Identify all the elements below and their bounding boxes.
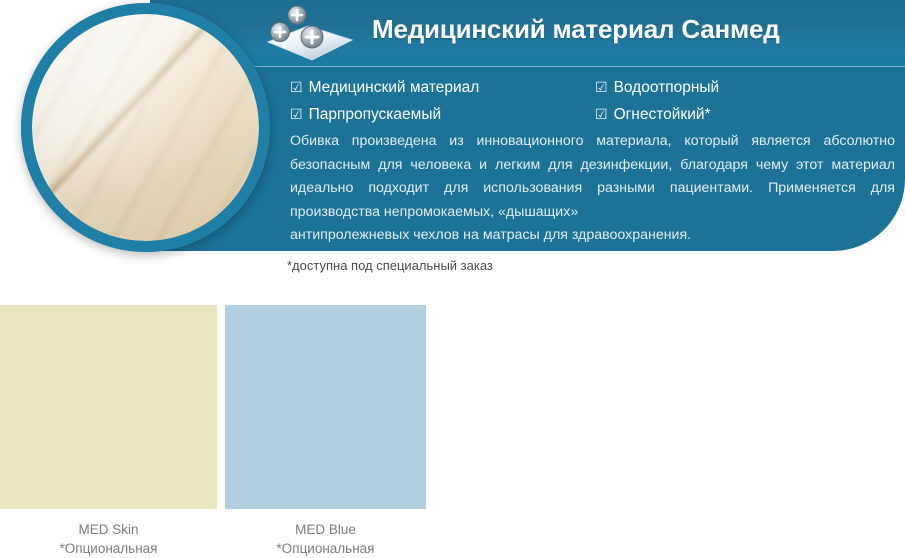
- feature-label: Парпропускаемый: [309, 106, 442, 123]
- swatch-name: MED Skin: [78, 522, 138, 537]
- description-paragraph-1: Обивка произведена из инновационного мат…: [290, 130, 895, 224]
- swatch-item-med-skin[interactable]: MED Skin *Опциональная: [0, 305, 217, 558]
- swatch-item-med-blue[interactable]: MED Blue *Опциональная: [225, 305, 426, 558]
- fabric-shading-overlay: [32, 14, 259, 241]
- sheet-with-plus-badges-icon: [262, 4, 358, 64]
- banner-description: Обивка произведена из инновационного мат…: [290, 130, 895, 248]
- fabric-photo-image: [32, 14, 259, 241]
- special-order-footnote: *доступна под специальный заказ: [287, 258, 493, 273]
- description-paragraph-2: антипролежневых чехлов на матрасы для зд…: [290, 224, 895, 248]
- swatch-caption-med-blue: MED Blue *Опциональная: [225, 520, 426, 558]
- feature-list: ☑Медицинский материал ☑Водоотпорный ☑Пар…: [290, 72, 890, 128]
- checkbox-checked-icon: ☑: [595, 107, 608, 121]
- swatch-caption-med-skin: MED Skin *Опциональная: [0, 520, 217, 558]
- swatch-chip-med-skin[interactable]: [0, 305, 217, 509]
- swatch-optional-note: *Опциональная: [0, 539, 217, 558]
- checkbox-checked-icon: ☑: [290, 107, 303, 121]
- feature-label: Водоотпорный: [614, 79, 720, 96]
- feature-item-medical-material: ☑Медицинский материал: [290, 80, 479, 96]
- checkbox-checked-icon: ☑: [290, 80, 303, 94]
- swatch-chip-med-blue[interactable]: [225, 305, 426, 509]
- material-closeup-photo: [21, 3, 270, 252]
- feature-item-waterproof: ☑Водоотпорный: [595, 80, 719, 96]
- swatch-optional-note: *Опциональная: [225, 539, 426, 558]
- checkbox-checked-icon: ☑: [595, 80, 608, 94]
- page-title: Медицинский материал Санмед: [372, 14, 780, 45]
- feature-label: Медицинский материал: [309, 79, 480, 96]
- feature-item-vapour-permeable: ☑Парпропускаемый: [290, 107, 441, 123]
- swatch-name: MED Blue: [295, 522, 356, 537]
- feature-label: Огнестойкий*: [614, 106, 711, 123]
- feature-item-fire-resistant: ☑Огнестойкий*: [595, 107, 711, 123]
